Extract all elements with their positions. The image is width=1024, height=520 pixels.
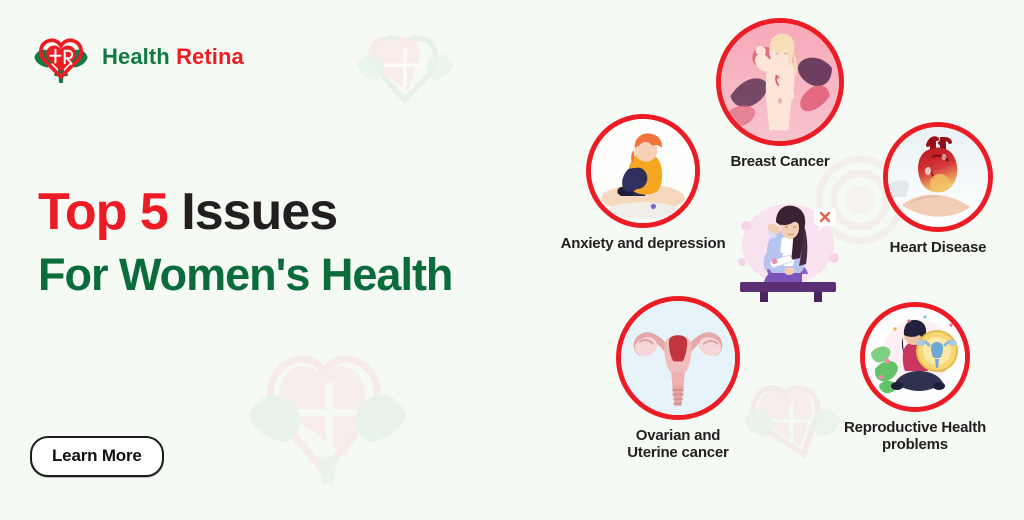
- background-watermark-logo: [240, 320, 415, 495]
- learn-more-button[interactable]: Learn More: [30, 436, 164, 477]
- issue-label: Ovarian and Uterine cancer: [598, 427, 758, 462]
- issue-label: Heart Disease: [858, 239, 1018, 256]
- breast-cancer-icon: [716, 18, 844, 146]
- issue-label: Anxiety and depression: [543, 235, 743, 252]
- headline-highlight: Top 5: [38, 183, 168, 241]
- headline-line-2: For Women's Health: [38, 251, 452, 298]
- issue-item-breast-cancer[interactable]: Breast Cancer: [700, 18, 860, 170]
- center-illustration: [722, 196, 852, 304]
- issue-label: Breast Cancer: [700, 153, 860, 170]
- background-watermark-logo: [350, 8, 460, 118]
- brand-name: Health Retina: [102, 44, 244, 70]
- issues-cluster: Anxiety and depression: [510, 0, 1024, 520]
- headline-rest: Issues: [181, 183, 337, 241]
- uterus-anatomy-icon: [616, 296, 740, 420]
- brand-logo[interactable]: Health Retina: [30, 26, 244, 88]
- heart-disease-icon: [883, 122, 993, 232]
- brand-name-part2: Retina: [176, 44, 244, 69]
- issue-item-ovarian-uterine-cancer[interactable]: Ovarian and Uterine cancer: [598, 296, 758, 462]
- page-title: Top 5 Issues For Women's Health: [38, 186, 452, 298]
- anxiety-depression-icon: [586, 114, 700, 228]
- woman-with-pregnancy-test-icon: [722, 196, 852, 304]
- reproductive-health-icon: [860, 302, 970, 412]
- brand-name-part1: Health: [102, 44, 170, 69]
- heart-in-hands-logo-icon: [30, 26, 92, 88]
- issue-item-heart-disease[interactable]: Heart Disease: [858, 122, 1018, 256]
- headline-line-1: Top 5 Issues: [38, 186, 452, 239]
- issue-label: Reproductive Health problems: [820, 419, 1010, 454]
- issue-item-reproductive-health[interactable]: Reproductive Health problems: [820, 302, 1010, 454]
